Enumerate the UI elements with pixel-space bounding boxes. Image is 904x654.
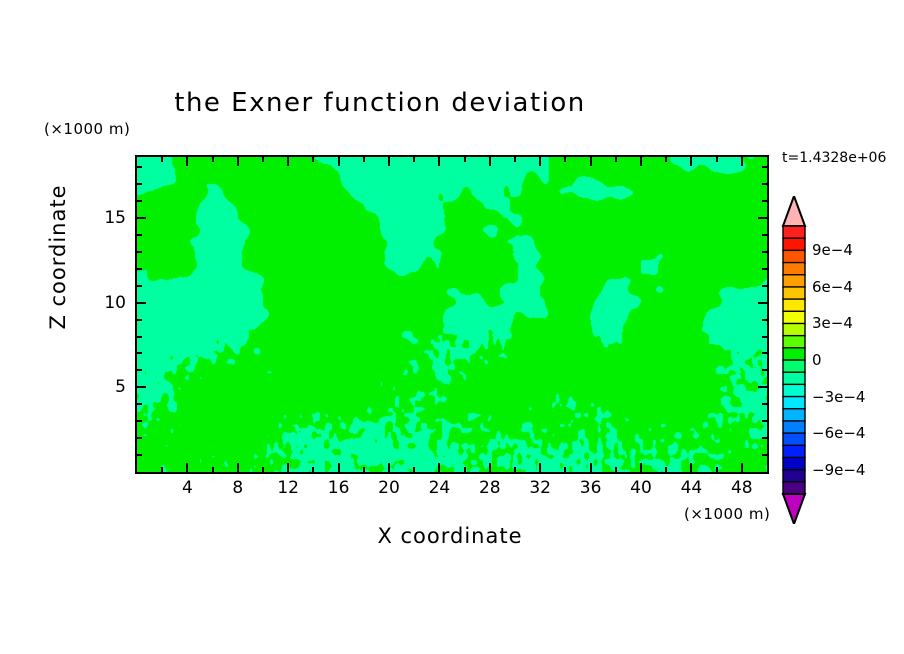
x-tick-top-major [539, 157, 541, 166]
x-tick-label: 20 [378, 478, 400, 498]
x-tick-label: 36 [580, 478, 602, 498]
x-tick-minor [716, 467, 718, 472]
y-tick-right-minor [762, 420, 767, 422]
x-tick-major [438, 463, 440, 472]
x-tick-major [640, 463, 642, 472]
colorbar-scale [780, 196, 808, 524]
y-tick-minor [137, 200, 142, 202]
x-tick-top-minor [312, 157, 314, 162]
x-tick-label: 12 [277, 478, 299, 498]
x-tick-top-minor [514, 157, 516, 162]
colorbar-segment [783, 348, 805, 361]
y-axis-title: Z coordinate [46, 157, 70, 357]
timestamp-annotation: t=1.4328e+06 [782, 150, 886, 166]
colorbar-segment [783, 323, 805, 336]
y-tick-major [137, 302, 146, 304]
x-tick-major [338, 463, 340, 472]
y-tick-right-minor [762, 319, 767, 321]
x-tick-minor [262, 467, 264, 472]
y-tick-minor [137, 166, 142, 168]
y-tick-major [137, 217, 146, 219]
colorbar-segment [783, 397, 805, 410]
y-tick-minor [137, 369, 142, 371]
x-tick-top-minor [716, 157, 718, 162]
y-tick-label: 10 [92, 293, 126, 313]
y-tick-label: 15 [92, 208, 126, 228]
y-tick-right-minor [762, 369, 767, 371]
colorbar-segment [783, 360, 805, 373]
x-tick-top-major [640, 157, 642, 166]
colorbar-segment [783, 287, 805, 300]
y-tick-right-major [758, 386, 767, 388]
colorbar-segment [783, 263, 805, 276]
x-tick-top-minor [413, 157, 415, 162]
x-axis-unit-label: (×1000 m) [684, 505, 770, 523]
y-tick-minor [137, 352, 142, 354]
y-tick-minor [137, 336, 142, 338]
plot-area [135, 155, 769, 474]
x-tick-minor [212, 467, 214, 472]
x-tick-minor [564, 467, 566, 472]
x-tick-label: 40 [630, 478, 652, 498]
x-tick-top-minor [564, 157, 566, 162]
x-tick-top-minor [464, 157, 466, 162]
x-tick-major [237, 463, 239, 472]
x-tick-top-minor [615, 157, 617, 162]
colorbar-tick-label: 3e−4 [812, 314, 853, 332]
y-tick-right-minor [762, 454, 767, 456]
y-tick-right-minor [762, 234, 767, 236]
colorbar-tick-label: 9e−4 [812, 241, 853, 259]
x-tick-top-minor [262, 157, 264, 162]
y-tick-minor [137, 234, 142, 236]
y-tick-right-minor [762, 285, 767, 287]
x-tick-label: 48 [731, 478, 753, 498]
x-tick-minor [413, 467, 415, 472]
colorbar-segment [783, 250, 805, 263]
y-tick-right-minor [762, 336, 767, 338]
colorbar-tick-label: −3e−4 [812, 388, 865, 406]
y-tick-right-minor [762, 251, 767, 253]
x-tick-minor [615, 467, 617, 472]
y-tick-major [137, 386, 146, 388]
colorbar [780, 196, 808, 524]
x-tick-top-minor [363, 157, 365, 162]
x-tick-major [590, 463, 592, 472]
colorbar-segment [783, 433, 805, 446]
y-tick-right-major [758, 217, 767, 219]
y-tick-right-minor [762, 268, 767, 270]
x-tick-top-major [489, 157, 491, 166]
x-tick-major [489, 463, 491, 472]
y-tick-minor [137, 183, 142, 185]
x-tick-minor [665, 467, 667, 472]
x-tick-label: 24 [429, 478, 451, 498]
colorbar-segment [783, 238, 805, 251]
x-tick-minor [464, 467, 466, 472]
x-axis-title: X coordinate [135, 524, 765, 548]
y-tick-right-minor [762, 403, 767, 405]
x-tick-top-major [237, 157, 239, 166]
y-tick-right-major [758, 302, 767, 304]
colorbar-segment [783, 299, 805, 312]
colorbar-tick-label: 6e−4 [812, 278, 853, 296]
y-tick-right-minor [762, 166, 767, 168]
x-tick-label: 4 [182, 478, 193, 498]
x-tick-top-major [590, 157, 592, 166]
x-tick-top-major [186, 157, 188, 166]
x-tick-minor [514, 467, 516, 472]
colorbar-tick-label: 0 [812, 351, 822, 369]
colorbar-segment [783, 457, 805, 470]
y-tick-minor [137, 285, 142, 287]
y-tick-minor [137, 420, 142, 422]
y-tick-right-minor [762, 200, 767, 202]
y-tick-minor [137, 251, 142, 253]
colorbar-segment [783, 311, 805, 324]
x-tick-minor [312, 467, 314, 472]
x-tick-major [539, 463, 541, 472]
colorbar-segment [783, 384, 805, 397]
colorbar-segment [783, 482, 805, 495]
colorbar-segment [783, 421, 805, 434]
x-tick-major [388, 463, 390, 472]
y-tick-right-minor [762, 352, 767, 354]
x-tick-major [741, 463, 743, 472]
colorbar-segment [783, 226, 805, 239]
x-tick-label: 32 [529, 478, 551, 498]
x-tick-top-major [741, 157, 743, 166]
x-tick-top-minor [665, 157, 667, 162]
colorbar-over-arrow [783, 196, 805, 226]
contour-field [137, 157, 767, 472]
colorbar-segment [783, 470, 805, 483]
x-tick-top-major [388, 157, 390, 166]
x-tick-label: 44 [681, 478, 703, 498]
y-tick-minor [137, 268, 142, 270]
colorbar-tick-label: −9e−4 [812, 461, 865, 479]
y-tick-minor [137, 454, 142, 456]
colorbar-tick-label: −6e−4 [812, 424, 865, 442]
y-tick-right-minor [762, 437, 767, 439]
x-tick-major [287, 463, 289, 472]
x-tick-major [690, 463, 692, 472]
colorbar-segment [783, 445, 805, 458]
x-tick-label: 16 [328, 478, 350, 498]
x-tick-top-minor [161, 157, 163, 162]
colorbar-under-arrow [783, 494, 805, 524]
y-tick-minor [137, 319, 142, 321]
x-tick-minor [161, 467, 163, 472]
x-tick-major [186, 463, 188, 472]
x-tick-top-major [338, 157, 340, 166]
contour-plot-figure: the Exner function deviation (×1000 m) (… [0, 0, 904, 654]
y-tick-minor [137, 403, 142, 405]
x-tick-top-major [438, 157, 440, 166]
colorbar-segment [783, 372, 805, 385]
colorbar-segment [783, 275, 805, 288]
y-tick-minor [137, 437, 142, 439]
y-tick-label: 5 [92, 377, 126, 397]
x-tick-label: 28 [479, 478, 501, 498]
x-tick-minor [363, 467, 365, 472]
y-tick-right-minor [762, 183, 767, 185]
x-tick-top-minor [212, 157, 214, 162]
colorbar-segment [783, 336, 805, 349]
x-tick-top-major [287, 157, 289, 166]
page-title: the Exner function deviation [0, 88, 760, 118]
y-axis-unit-label: (×1000 m) [44, 120, 130, 138]
x-tick-top-major [690, 157, 692, 166]
x-tick-label: 8 [232, 478, 243, 498]
colorbar-segment [783, 409, 805, 422]
